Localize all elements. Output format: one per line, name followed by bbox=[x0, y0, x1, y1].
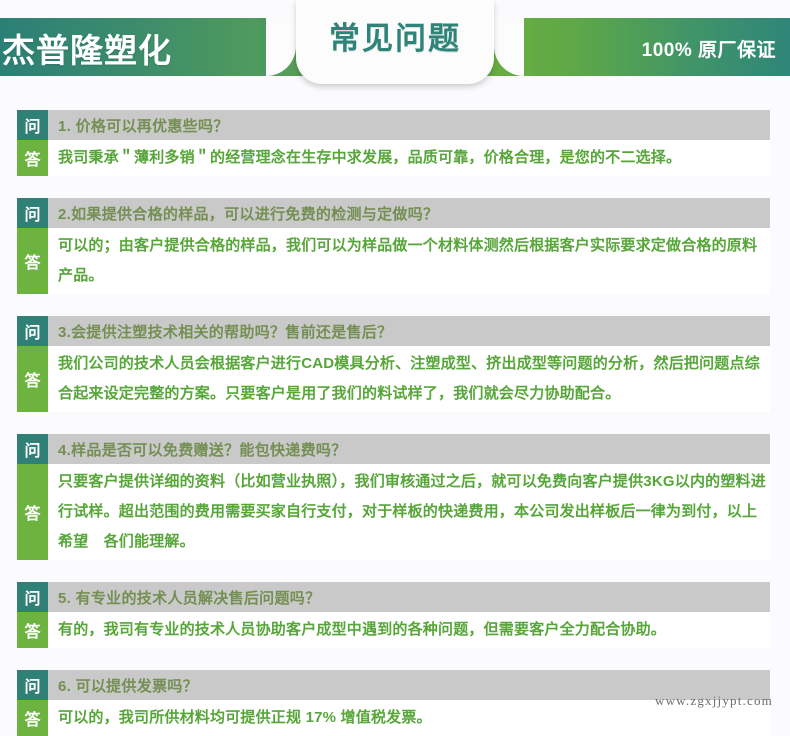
faq-item: 问 3.会提供注塑技术相关的帮助吗？售前还是售后？ 答 我们公司的技术人员会根据… bbox=[17, 316, 770, 412]
question-text: 5. 有专业的技术人员解决售后问题吗？ bbox=[48, 582, 770, 612]
answer-badge: 答 bbox=[17, 700, 48, 736]
faq-answer-row: 答 我们公司的技术人员会根据客户进行CAD模具分析、注塑成型、挤出成型等问题的分… bbox=[17, 346, 770, 412]
question-badge: 问 bbox=[17, 198, 48, 228]
site-watermark: www.zgxjjypt.com bbox=[655, 693, 773, 709]
answer-badge: 答 bbox=[17, 228, 48, 294]
question-text: 2.如果提供合格的样品，可以进行免费的检测与定做吗？ bbox=[48, 198, 770, 228]
guarantee-label: 100% 原厂保证 bbox=[642, 20, 776, 76]
question-badge: 问 bbox=[17, 110, 48, 140]
faq-question-row[interactable]: 问 2.如果提供合格的样品，可以进行免费的检测与定做吗？ bbox=[17, 198, 770, 228]
answer-text: 我司秉承＂薄利多销＂的经营理念在生存中求发展，品质可靠，价格合理，是您的不二选择… bbox=[48, 140, 770, 176]
page-title: 常见问题 bbox=[296, 0, 494, 70]
answer-text: 有的，我司有专业的技术人员协助客户成型中遇到的各种问题，但需要客户全力配合协助。 bbox=[48, 612, 770, 648]
question-text: 3.会提供注塑技术相关的帮助吗？售前还是售后？ bbox=[48, 316, 770, 346]
faq-answer-row: 答 可以的；由客户提供合格的样品，我们可以为样品做一个材料体测然后根据客户实际要… bbox=[17, 228, 770, 294]
faq-list: 问 1. 价格可以再优惠些吗？ 答 我司秉承＂薄利多销＂的经营理念在生存中求发展… bbox=[17, 110, 770, 736]
answer-badge: 答 bbox=[17, 140, 48, 176]
question-badge: 问 bbox=[17, 670, 48, 700]
answer-badge: 答 bbox=[17, 612, 48, 648]
faq-answer-row: 答 我司秉承＂薄利多销＂的经营理念在生存中求发展，品质可靠，价格合理，是您的不二… bbox=[17, 140, 770, 176]
answer-text: 可以的；由客户提供合格的样品，我们可以为样品做一个材料体测然后根据客户实际要求定… bbox=[48, 228, 770, 294]
faq-item: 问 2.如果提供合格的样品，可以进行免费的检测与定做吗？ 答 可以的；由客户提供… bbox=[17, 198, 770, 294]
answer-badge: 答 bbox=[17, 346, 48, 412]
question-badge: 问 bbox=[17, 582, 48, 612]
faq-answer-row: 答 有的，我司有专业的技术人员协助客户成型中遇到的各种问题，但需要客户全力配合协… bbox=[17, 612, 770, 648]
faq-question-row[interactable]: 问 1. 价格可以再优惠些吗？ bbox=[17, 110, 770, 140]
question-text: 1. 价格可以再优惠些吗？ bbox=[48, 110, 770, 140]
faq-question-row[interactable]: 问 3.会提供注塑技术相关的帮助吗？售前还是售后？ bbox=[17, 316, 770, 346]
question-badge: 问 bbox=[17, 434, 48, 464]
answer-badge: 答 bbox=[17, 464, 48, 560]
faq-item: 问 1. 价格可以再优惠些吗？ 答 我司秉承＂薄利多销＂的经营理念在生存中求发展… bbox=[17, 110, 770, 176]
faq-item: 问 5. 有专业的技术人员解决售后问题吗？ 答 有的，我司有专业的技术人员协助客… bbox=[17, 582, 770, 648]
faq-answer-row: 答 只要客户提供详细的资料（比如营业执照），我们审核通过之后，就可以免费向客户提… bbox=[17, 464, 770, 560]
question-badge: 问 bbox=[17, 316, 48, 346]
faq-question-row[interactable]: 问 5. 有专业的技术人员解决售后问题吗？ bbox=[17, 582, 770, 612]
page-header: 杰普隆塑化 常见问题 100% 原厂保证 bbox=[0, 0, 790, 90]
answer-text: 只要客户提供详细的资料（比如营业执照），我们审核通过之后，就可以免费向客户提供3… bbox=[48, 464, 770, 560]
faq-item: 问 4.样品是否可以免费赠送？能包快递费吗？ 答 只要客户提供详细的资料（比如营… bbox=[17, 434, 770, 560]
answer-text: 我们公司的技术人员会根据客户进行CAD模具分析、注塑成型、挤出成型等问题的分析，… bbox=[48, 346, 770, 412]
question-text: 4.样品是否可以免费赠送？能包快递费吗？ bbox=[48, 434, 770, 464]
company-logo-text: 杰普隆塑化 bbox=[2, 20, 172, 76]
faq-question-row[interactable]: 问 4.样品是否可以免费赠送？能包快递费吗？ bbox=[17, 434, 770, 464]
